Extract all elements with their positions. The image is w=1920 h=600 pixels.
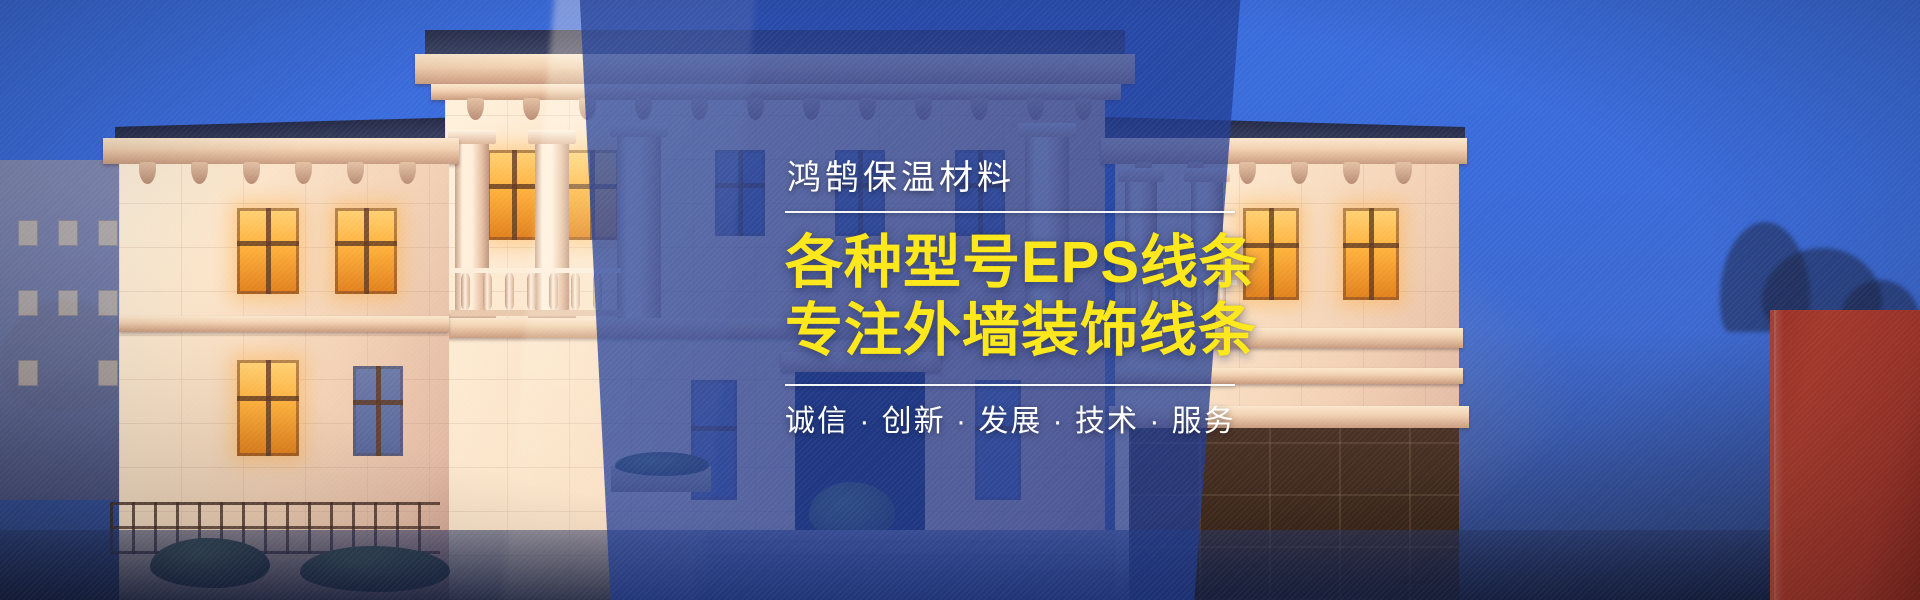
headline-line-1: 各种型号EPS线条 [785,229,1235,296]
tagline: 诚信 · 创新 · 发展 · 技术 · 服务 [785,404,1235,440]
headline-line-2: 专注外墙装饰线条 [785,297,1235,364]
promo-banner: 鸿鹄保温材料 各种型号EPS线条 专注外墙装饰线条 诚信 · 创新 · 发展 ·… [0,0,1920,600]
banner-copy: 鸿鹄保温材料 各种型号EPS线条 专注外墙装饰线条 诚信 · 创新 · 发展 ·… [0,0,1920,600]
divider-top [785,211,1235,213]
brand-name: 鸿鹄保温材料 [785,160,1235,197]
divider-bottom [785,384,1235,386]
